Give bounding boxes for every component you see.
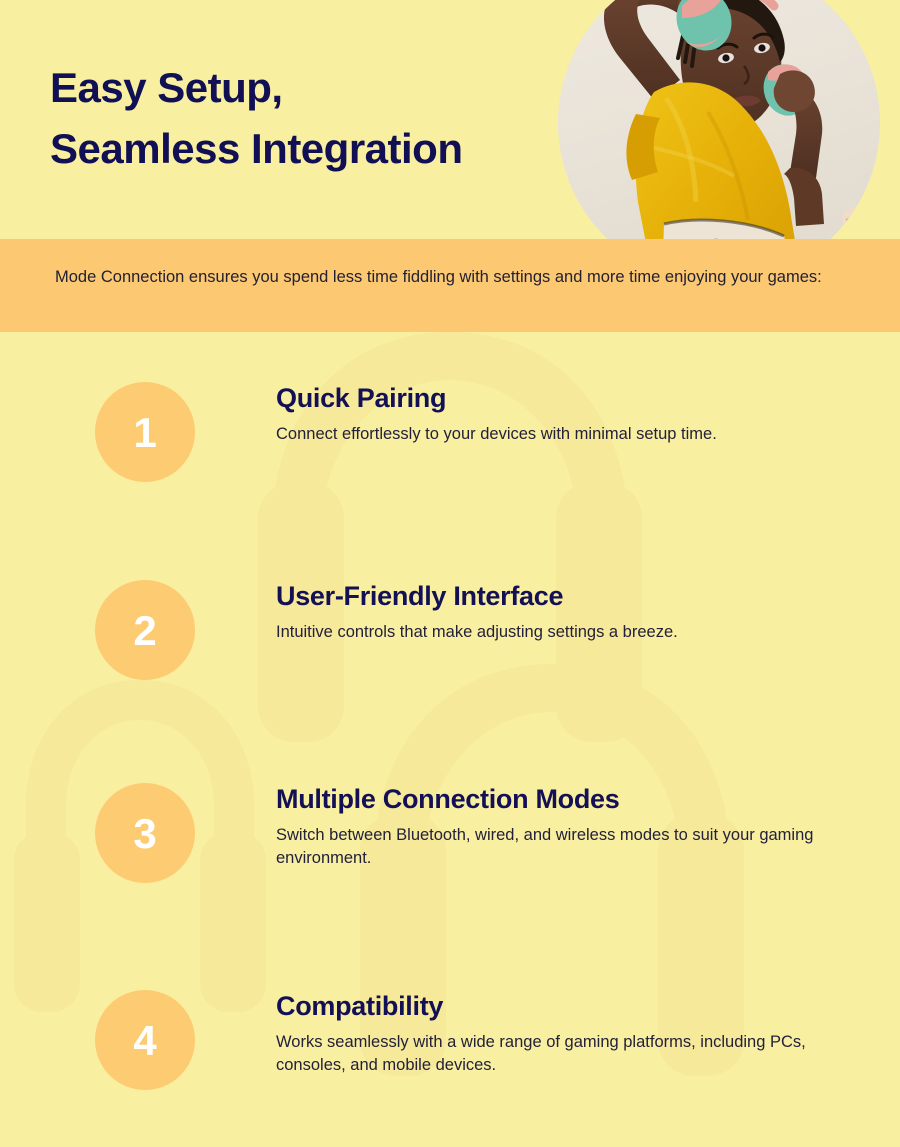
- page-title-line-2: Seamless Integration: [50, 119, 590, 180]
- list-item-description: Intuitive controls that make adjusting s…: [276, 621, 851, 644]
- list-item-title: User-Friendly Interface: [276, 580, 866, 612]
- list-item-description: Works seamlessly with a wide range of ga…: [276, 1031, 851, 1076]
- step-number-badge: 2: [95, 580, 195, 680]
- list-item-description: Connect effortlessly to your devices wit…: [276, 423, 806, 446]
- page-title: Easy Setup, Seamless Integration: [50, 58, 590, 180]
- list-item-title: Quick Pairing: [276, 382, 866, 414]
- step-number-label: 1: [133, 412, 156, 454]
- list-item-body: Quick Pairing Connect effortlessly to yo…: [276, 382, 866, 446]
- intro-banner: Mode Connection ensures you spend less t…: [0, 239, 900, 332]
- step-number-badge: 1: [95, 382, 195, 482]
- step-number-badge: 4: [95, 990, 195, 1090]
- list-item-title: Multiple Connection Modes: [276, 783, 866, 815]
- step-number-badge: 3: [95, 783, 195, 883]
- list-item-body: Multiple Connection Modes Switch between…: [276, 783, 866, 870]
- hero-section: Easy Setup, Seamless Integration: [0, 0, 900, 239]
- step-number-label: 2: [133, 610, 156, 652]
- step-number-label: 4: [133, 1020, 156, 1062]
- list-item-title: Compatibility: [276, 990, 866, 1022]
- list-item-body: Compatibility Works seamlessly with a wi…: [276, 990, 866, 1077]
- page-title-line-1: Easy Setup,: [50, 58, 590, 119]
- list-item-description: Switch between Bluetooth, wired, and wir…: [276, 824, 851, 869]
- list-item-body: User-Friendly Interface Intuitive contro…: [276, 580, 866, 644]
- step-number-label: 3: [133, 813, 156, 855]
- intro-banner-text: Mode Connection ensures you spend less t…: [55, 266, 845, 289]
